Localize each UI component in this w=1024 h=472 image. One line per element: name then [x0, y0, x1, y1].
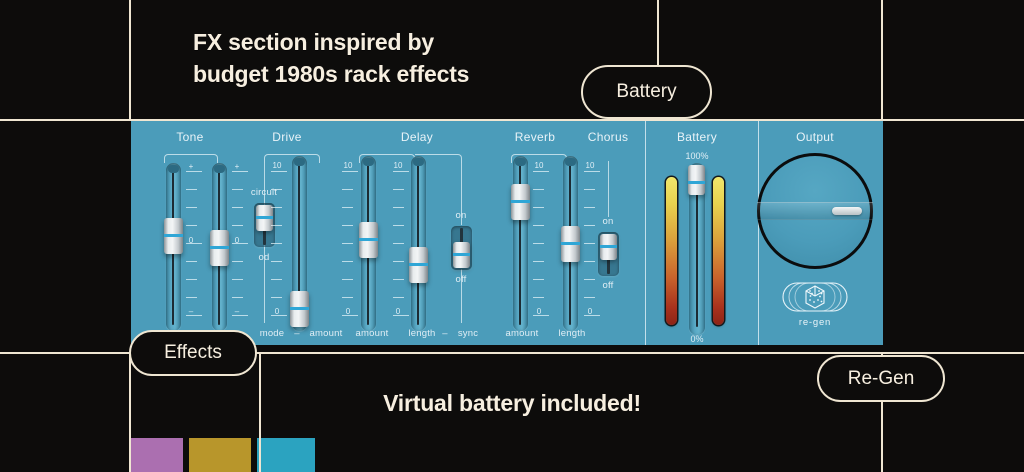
section-title-drive: Drive [272, 130, 302, 144]
panel-separator-2 [758, 121, 759, 345]
delay-sync-top-label: on [456, 210, 467, 221]
tone-fader-2-ticks [232, 167, 249, 327]
drive-fader-ticks [271, 167, 288, 327]
drive-footer-dash: – [294, 328, 299, 339]
chorus-toggle[interactable] [598, 232, 619, 276]
tone-1-scale-plus: + [189, 162, 194, 171]
battery-scale-max: 100% [685, 151, 708, 161]
reverb-amount-thumb[interactable] [511, 184, 530, 220]
tone-1-scale-minus: – [189, 307, 193, 316]
chorus-toggle-top-label: on [603, 216, 614, 227]
chorus-rail [608, 161, 609, 217]
poster-root: FX section inspired by budget 1980s rack… [0, 0, 1024, 472]
swatch-gold [189, 438, 251, 472]
section-title-tone: Tone [176, 130, 203, 144]
battery-fader-thumb[interactable] [688, 165, 705, 195]
reverb-amount-track[interactable] [513, 156, 528, 331]
regen-label: re-gen [799, 317, 831, 328]
dice-icon [779, 279, 851, 315]
reverb-length-scale-top: 10 [586, 161, 595, 170]
reverb-length-scale-bottom: 0 [588, 307, 592, 316]
tone-2-scale-zero: 0 [235, 236, 239, 245]
delay-footer-amount: amount [356, 328, 389, 339]
battery-meter-right [713, 177, 724, 325]
delay-length-ticks [393, 167, 410, 327]
delay-length-track[interactable] [411, 156, 426, 331]
callout-battery-label: Battery [616, 81, 676, 103]
tone-2-scale-minus: – [235, 307, 239, 316]
drive-toggle-bottom-label: od [259, 252, 270, 263]
drive-footer-amount: amount [310, 328, 343, 339]
delay-footer-sync: sync [458, 328, 478, 339]
grid-line-vertical-right-top [881, 0, 883, 119]
callout-regen-label: Re-Gen [848, 368, 915, 390]
reverb-footer-amount: amount [506, 328, 539, 339]
callout-effects[interactable]: Effects [129, 330, 257, 376]
reverb-amount-ticks [533, 167, 550, 327]
reverb-amount-scale-top: 10 [535, 161, 544, 170]
drive-scale-bottom: 0 [275, 307, 279, 316]
delay-amount-scale-bottom: 0 [346, 307, 350, 316]
section-title-output: Output [796, 130, 834, 144]
battery-meter-left [666, 177, 677, 325]
callout-effects-label: Effects [164, 342, 222, 364]
panel-separator-1 [645, 121, 646, 345]
delay-footer-dash: – [442, 328, 447, 339]
section-title-chorus: Chorus [588, 130, 628, 144]
chorus-toggle-bottom-label: off [603, 280, 614, 291]
tone-fader-2-thumb[interactable] [210, 230, 229, 266]
delay-length-scale-bottom: 0 [396, 307, 400, 316]
section-title-battery: Battery [677, 130, 717, 144]
reverb-amount-scale-bottom: 0 [537, 307, 541, 316]
grid-line-vertical-left-top [129, 0, 131, 119]
callout-regen[interactable]: Re-Gen [817, 355, 945, 402]
fx-panel: Tone Drive Delay Reverb Chorus Battery O… [131, 121, 883, 345]
regen-button[interactable] [779, 279, 851, 315]
swatch-purple [131, 438, 183, 472]
drive-amount-thumb[interactable] [290, 291, 309, 327]
delay-amount-scale-top: 10 [344, 161, 353, 170]
section-title-delay: Delay [401, 130, 433, 144]
drive-footer-mode: mode [260, 328, 285, 339]
callout-battery[interactable]: Battery [581, 65, 712, 119]
battery-scale-min: 0% [690, 334, 703, 344]
section-title-reverb: Reverb [515, 130, 555, 144]
reverb-length-thumb[interactable] [561, 226, 580, 262]
output-knob-indicator [832, 207, 862, 215]
delay-sync-toggle[interactable] [451, 226, 472, 270]
delay-amount-ticks [342, 167, 359, 327]
delay-footer-length: length [408, 328, 435, 339]
tone-2-scale-plus: + [235, 162, 240, 171]
reverb-footer-length: length [558, 328, 585, 339]
delay-amount-thumb[interactable] [359, 222, 378, 258]
delay-length-thumb[interactable] [409, 247, 428, 283]
output-knob[interactable] [757, 153, 873, 269]
page-headline: FX section inspired by budget 1980s rack… [193, 27, 469, 90]
delay-length-scale-top: 10 [394, 161, 403, 170]
swatch-teal [257, 438, 315, 472]
tone-1-scale-zero: 0 [189, 236, 193, 245]
delay-sync-bottom-label: off [456, 274, 467, 285]
tone-fader-1-ticks [186, 167, 203, 327]
drive-scale-top: 10 [273, 161, 282, 170]
tone-fader-1-thumb[interactable] [164, 218, 183, 254]
